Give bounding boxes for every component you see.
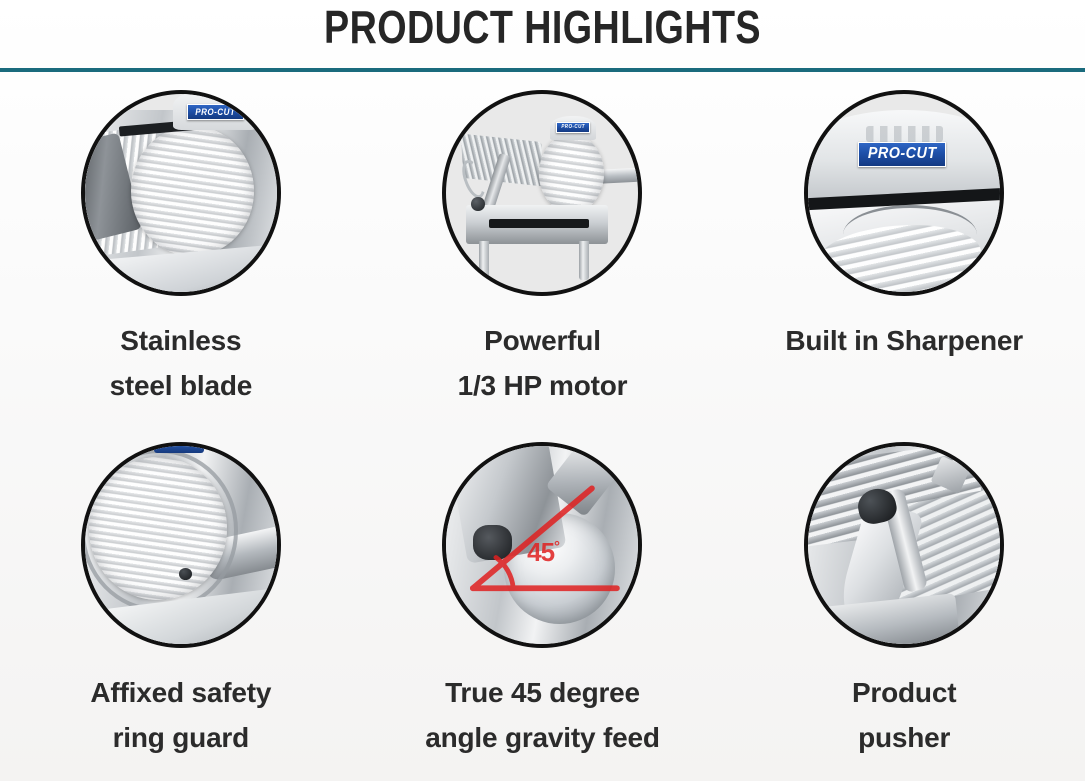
photo-inner: PRO-CUT <box>808 94 1000 292</box>
blade-disc-shape <box>131 126 254 257</box>
photo-45-degree-angle-gravity-feed[interactable]: 45° <box>442 442 642 648</box>
embossed-text-shape <box>866 126 943 142</box>
procut-badge-label: PRO-CUT <box>868 145 937 163</box>
photo-built-in-sharpener[interactable]: PRO-CUT <box>804 90 1004 296</box>
highlight-item-stainless-steel-blade[interactable]: PRO-CUT Stainless steel blade <box>0 78 362 430</box>
caption-line-2: 1/3 HP motor <box>458 363 628 408</box>
base-slot-shape <box>489 219 589 228</box>
caption-line-2: angle gravity feed <box>425 715 659 760</box>
photo-inner: PRO-CUT <box>85 94 277 292</box>
procut-badge: PRO-CUT <box>556 122 591 133</box>
caption-line-1: Powerful <box>484 325 601 356</box>
caption-powerful-motor: Powerful 1/3 HP motor <box>458 318 628 408</box>
slicer-leg-left-shape <box>479 241 489 281</box>
safety-ring-guard-shape <box>85 449 239 611</box>
title-divider <box>0 68 1085 72</box>
caption-line-1: Built in Sharpener <box>785 325 1023 356</box>
highlights-grid: PRO-CUT Stainless steel blade PRO-CUT <box>0 78 1085 781</box>
blue-tab-shape <box>154 446 204 454</box>
caption-line-1: Affixed safety <box>90 677 271 708</box>
blade-edge-shape <box>843 205 977 264</box>
caption-built-in-sharpener: Built in Sharpener <box>785 318 1023 363</box>
photo-inner: PRO-CUT <box>446 94 638 292</box>
procut-badge: PRO-CUT <box>187 104 245 120</box>
photo-affixed-safety-ring-guard[interactable] <box>81 442 281 648</box>
photo-inner <box>85 446 277 644</box>
photo-product-pusher[interactable] <box>804 442 1004 648</box>
caption-line-1: Stainless <box>120 325 241 356</box>
highlight-item-affixed-safety-ring-guard[interactable]: Affixed safety ring guard <box>0 430 362 781</box>
angle-label: 45° <box>527 539 559 565</box>
angle-value: 45 <box>527 537 554 567</box>
caption-line-2: ring guard <box>90 715 271 760</box>
highlight-item-true-45-degree-angle-gravity-feed[interactable]: 45° True 45 degree angle gravity feed <box>362 430 724 781</box>
caption-product-pusher: Product pusher <box>852 670 956 760</box>
procut-badge-label: PRO-CUT <box>195 107 235 117</box>
procut-badge: PRO-CUT <box>858 142 946 168</box>
caption-affixed-safety-ring-guard: Affixed safety ring guard <box>90 670 271 760</box>
photo-inner <box>808 446 1000 644</box>
caption-line-2: pusher <box>852 715 956 760</box>
caption-stainless-steel-blade: Stainless steel blade <box>110 318 253 408</box>
caption-45-degree-angle-gravity-feed: True 45 degree angle gravity feed <box>425 670 659 760</box>
caption-line-2: steel blade <box>110 363 253 408</box>
blade-disc-shape <box>539 134 604 213</box>
degree-symbol: ° <box>554 538 559 555</box>
caption-line-1: True 45 degree <box>445 677 640 708</box>
highlight-item-product-pusher[interactable]: Product pusher <box>723 430 1085 781</box>
page-title: PRODUCT HIGHLIGHTS <box>98 0 988 52</box>
slicer-leg-right-shape <box>579 241 589 281</box>
photo-powerful-motor[interactable]: PRO-CUT <box>442 90 642 296</box>
photo-inner: 45° <box>446 446 638 644</box>
highlight-item-built-in-sharpener[interactable]: PRO-CUT Built in Sharpener <box>723 78 1085 430</box>
highlight-item-powerful-motor[interactable]: PRO-CUT Powerful 1/3 HP motor <box>362 78 724 430</box>
procut-badge-label: PRO-CUT <box>561 124 585 130</box>
thickness-knob-shape <box>471 197 484 211</box>
photo-stainless-steel-blade[interactable]: PRO-CUT <box>81 90 281 296</box>
caption-line-1: Product <box>852 677 956 708</box>
